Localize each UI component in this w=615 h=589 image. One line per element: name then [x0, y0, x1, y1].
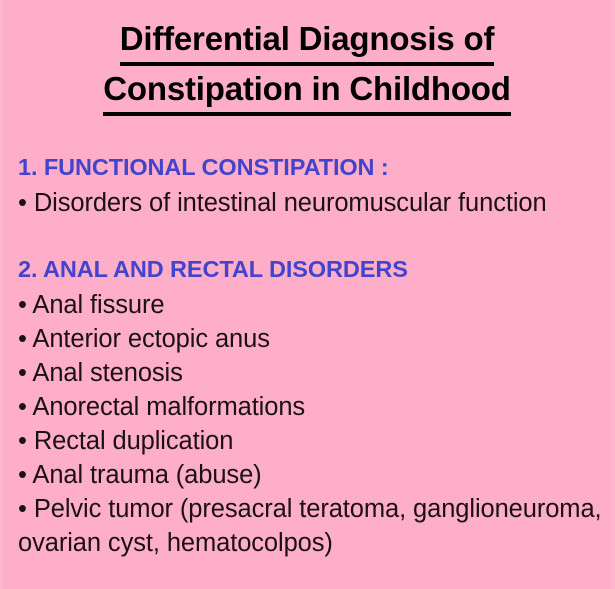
page-title: Differential Diagnosis of Constipation i…: [3, 0, 611, 116]
list-item: • Rectal duplication: [18, 424, 605, 458]
bullet-icon: •: [18, 291, 27, 319]
list-item-label: Disorders of intestinal neuromuscular fu…: [34, 189, 547, 217]
list-item: • Anal trauma (abuse): [18, 458, 605, 492]
list-item-label: Anal fissure: [32, 291, 164, 319]
list-item: • Anorectal malformations: [18, 390, 605, 424]
slide-canvas: Differential Diagnosis of Constipation i…: [0, 0, 615, 589]
section-heading-1: 1. FUNCTIONAL CONSTIPATION :: [18, 152, 605, 182]
list-item-label: Anal stenosis: [32, 359, 182, 387]
list-item: • Anal fissure: [18, 288, 605, 322]
slide-body: 1. FUNCTIONAL CONSTIPATION : • Disorders…: [3, 152, 611, 560]
list-item-label: Pelvic tumor (presacral teratoma, gangli…: [18, 495, 602, 557]
list-item-label: Rectal duplication: [34, 427, 234, 455]
section-heading-2: 2. ANAL AND RECTAL DISORDERS: [18, 254, 605, 284]
bullet-icon: •: [18, 359, 27, 387]
bullet-list-1: • Disorders of intestinal neuromuscular …: [18, 186, 605, 220]
list-item: • Anterior ectopic anus: [18, 322, 605, 356]
title-line-2: Constipation in Childhood: [3, 66, 611, 116]
list-item: • Pelvic tumor (presacral teratoma, gang…: [18, 492, 605, 560]
bullet-icon: •: [18, 427, 27, 455]
bullet-icon: •: [18, 461, 27, 489]
bullet-icon: •: [18, 393, 27, 421]
title-line-1: Differential Diagnosis of: [3, 16, 611, 66]
bullet-icon: •: [18, 325, 27, 353]
bullet-list-2: • Anal fissure • Anterior ectopic anus •…: [18, 288, 605, 560]
section-functional-constipation: 1. FUNCTIONAL CONSTIPATION : • Disorders…: [18, 152, 605, 220]
list-item: • Disorders of intestinal neuromuscular …: [18, 186, 605, 220]
list-item: • Anal stenosis: [18, 356, 605, 390]
bullet-icon: •: [18, 495, 27, 523]
list-item-label: Anorectal malformations: [32, 393, 305, 421]
bullet-icon: •: [18, 189, 27, 217]
section-anal-and-rectal-disorders: 2. ANAL AND RECTAL DISORDERS • Anal fiss…: [18, 254, 605, 560]
title-line-1-text: Differential Diagnosis of: [120, 16, 495, 66]
list-item-label: Anterior ectopic anus: [32, 325, 269, 353]
title-line-2-text: Constipation in Childhood: [103, 66, 510, 116]
list-item-label: Anal trauma (abuse): [32, 461, 261, 489]
